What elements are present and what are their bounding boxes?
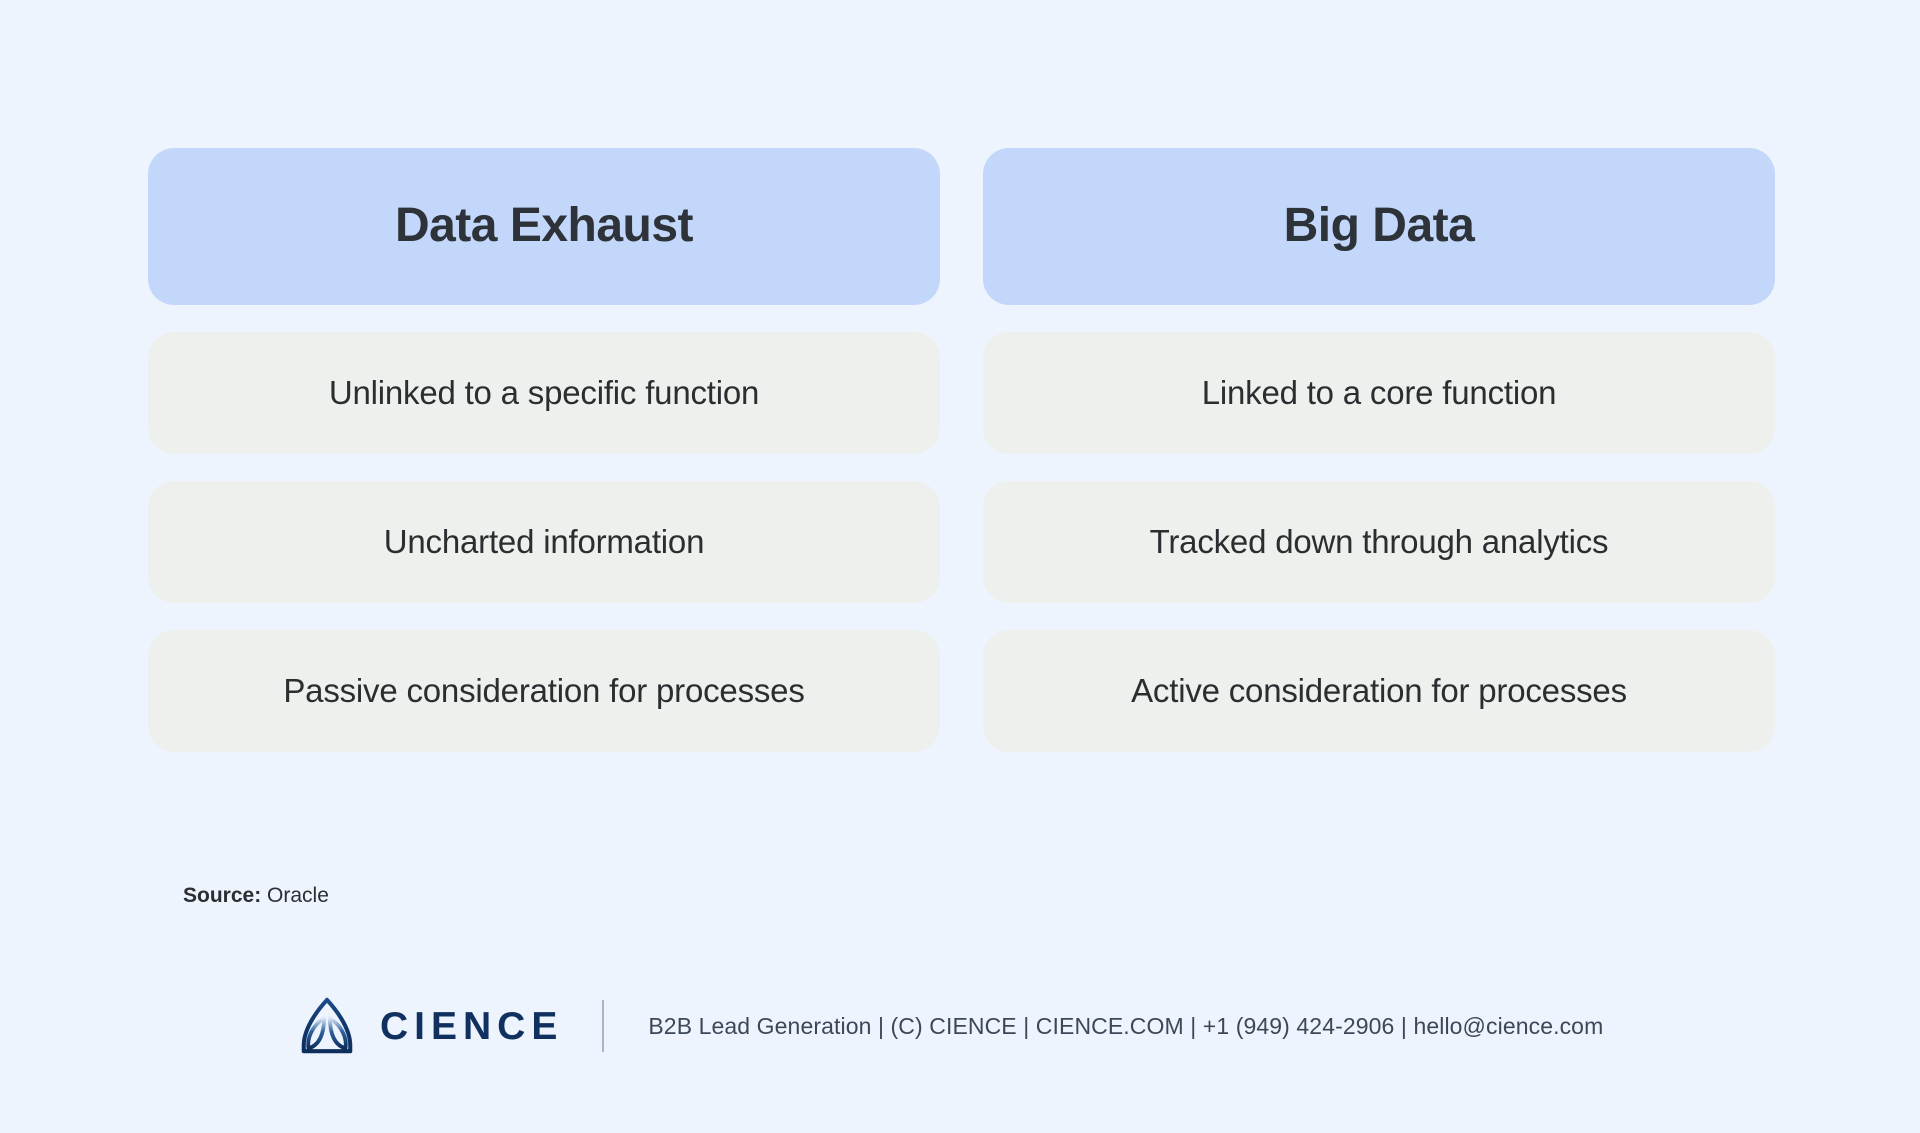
source-value: Oracle [267, 884, 329, 907]
cience-arch-logo-icon [296, 995, 358, 1057]
infographic-page: Data Exhaust Big Data Unlinked to a spec… [0, 0, 1920, 1133]
comparison-cell-label: Linked to a core function [1202, 372, 1557, 413]
column-header-label: Data Exhaust [395, 200, 693, 253]
comparison-cell: Unlinked to a specific function [148, 332, 940, 454]
comparison-cell: Tracked down through analytics [983, 481, 1775, 603]
source-attribution: Source: Oracle [183, 884, 329, 908]
comparison-cell: Uncharted information [148, 481, 940, 603]
source-label: Source: [183, 884, 261, 907]
footer-contact-text: B2B Lead Generation | (C) CIENCE | CIENC… [648, 1013, 1603, 1040]
comparison-cell: Active consideration for processes [983, 630, 1775, 752]
column-header-label: Big Data [1284, 200, 1475, 253]
comparison-grid: Data Exhaust Big Data Unlinked to a spec… [148, 148, 1775, 752]
column-header-big-data: Big Data [983, 148, 1775, 305]
comparison-cell: Linked to a core function [983, 332, 1775, 454]
brand-wordmark: CIENCE [380, 1007, 563, 1046]
comparison-cell-label: Active consideration for processes [1131, 670, 1627, 711]
column-header-data-exhaust: Data Exhaust [148, 148, 940, 305]
brand-lockup: CIENCE [296, 995, 563, 1057]
comparison-cell-label: Unlinked to a specific function [329, 372, 759, 413]
footer-divider [602, 1000, 604, 1052]
footer: CIENCE B2B Lead Generation | (C) CIENCE … [296, 995, 1603, 1057]
comparison-cell-label: Tracked down through analytics [1150, 521, 1609, 562]
comparison-cell: Passive consideration for processes [148, 630, 940, 752]
comparison-cell-label: Uncharted information [384, 521, 704, 562]
comparison-cell-label: Passive consideration for processes [283, 670, 804, 711]
